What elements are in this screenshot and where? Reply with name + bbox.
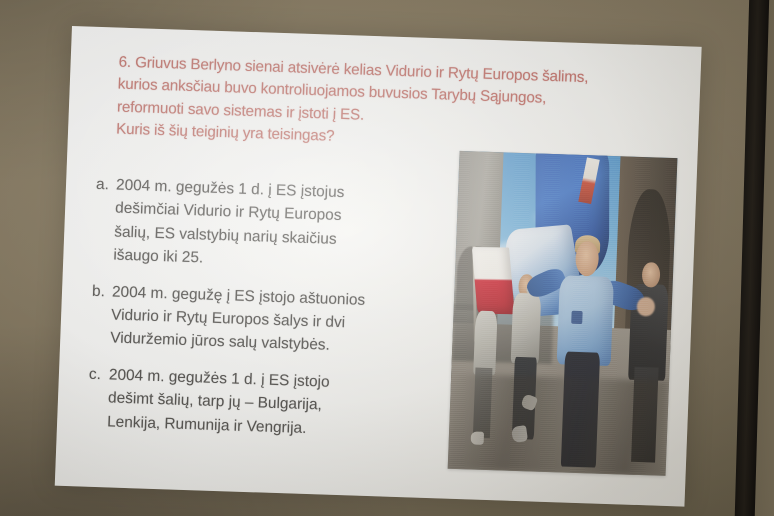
- answer-option-c: c. 2004 m. gegužės 1 d. į ES įstojo deši…: [79, 362, 421, 443]
- question-text: 6. Griuvus Berlyno sienai atsivėrė kelia…: [116, 52, 667, 159]
- answer-text-b: 2004 m. gegužę į ES įstojo aštuonios Vid…: [110, 280, 424, 361]
- answer-marker-a: a.: [85, 173, 116, 267]
- photo-grain: [448, 151, 678, 476]
- projected-slide-scene: 6. Griuvus Berlyno sienai atsivėrė kelia…: [0, 0, 774, 516]
- answer-option-b: b. 2004 m. gegužę į ES įstojo aštuonios …: [82, 279, 424, 360]
- answer-option-a: a. 2004 m. gegužės 1 d. į ES įstojus deš…: [85, 173, 428, 278]
- presentation-slide: 6. Griuvus Berlyno sienai atsivėrė kelia…: [55, 26, 702, 507]
- answer-options-list: a. 2004 m. gegužės 1 d. į ES įstojus deš…: [78, 173, 428, 457]
- slide-photo-eu-celebration: [448, 151, 678, 476]
- answer-text-a: 2004 m. gegužės 1 d. į ES įstojus dešimč…: [113, 174, 428, 278]
- answer-marker-b: b.: [82, 279, 113, 350]
- answer-text-c: 2004 m. gegužės 1 d. į ES įstojo dešimt …: [107, 363, 421, 444]
- answer-marker-c: c.: [79, 362, 110, 433]
